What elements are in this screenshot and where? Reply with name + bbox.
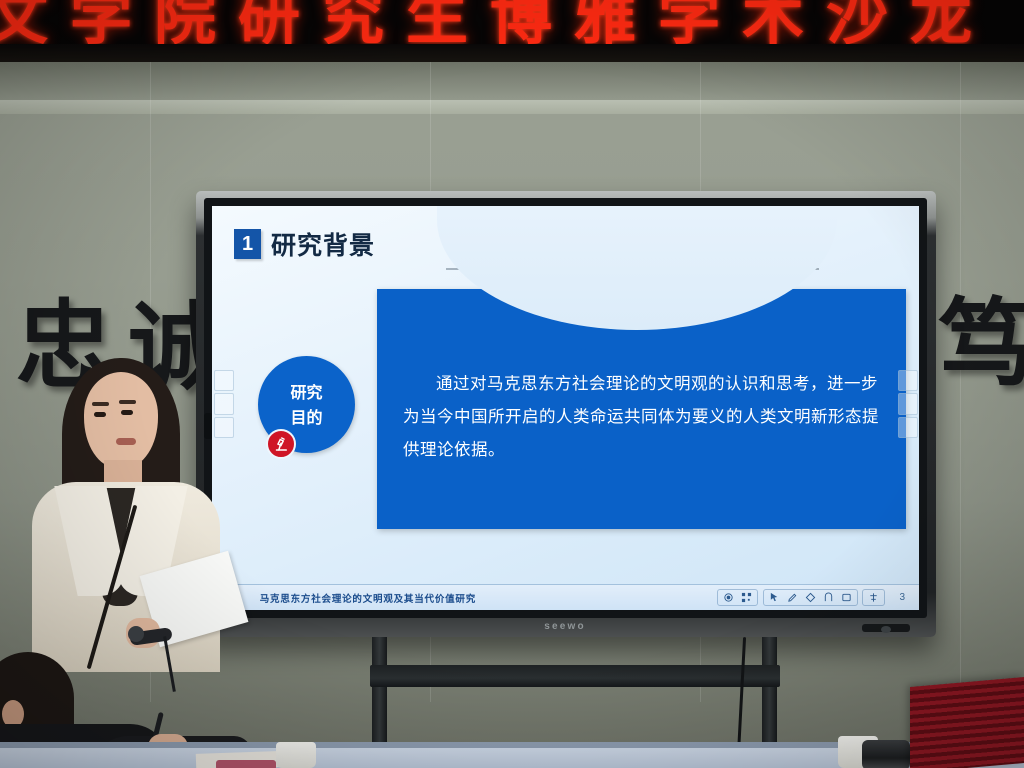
microphone-head: [128, 626, 144, 642]
led-banner-shadow: [0, 44, 1024, 62]
slide-header: 1 研究背景: [234, 226, 375, 262]
cart-leg-right: [762, 637, 777, 755]
presenter-eye-left: [94, 412, 106, 417]
slide-side-toolbar-right[interactable]: [898, 370, 918, 438]
qr-code-icon[interactable]: [739, 590, 754, 605]
led-banner-text: 文学院研究生博雅学术沙龙: [0, 0, 994, 48]
wall-calligraphy-char-3: 笃: [938, 296, 1024, 392]
thermos-lid: [862, 740, 910, 768]
slide-page-number: 3: [899, 592, 905, 603]
paper-cup-left: [276, 742, 316, 768]
led-scrolling-banner: 文学院研究生博雅学术沙龙: [0, 0, 1024, 62]
display-power-led: [881, 626, 891, 633]
toolbar-group-align[interactable]: [862, 589, 885, 606]
wall-trim-band: [0, 100, 1024, 114]
slide-footer-title: 马克思东方社会理论的文明观及其当代价值研究: [260, 591, 476, 605]
presenter-mouth: [116, 438, 136, 445]
slide-bottom-bar: ➤ 马克思东方社会理论的文明观及其当代价值研究: [212, 584, 919, 610]
side-tool-icon-1[interactable]: [898, 370, 918, 391]
presenter-person: [18, 330, 248, 670]
display-brand-logo: seewo: [533, 621, 597, 633]
presentation-mode-icon[interactable]: [721, 590, 736, 605]
presenter-face: [84, 372, 158, 468]
circle-label-line-2: 目的: [290, 405, 322, 430]
cart-crossbar: [370, 665, 780, 687]
circle-label-line-1: 研究: [290, 380, 322, 405]
eraser-icon[interactable]: [803, 590, 818, 605]
pen-icon[interactable]: [785, 590, 800, 605]
page-title: 研究背景: [271, 226, 375, 262]
cart-leg-left: [372, 637, 387, 755]
side-tool-icon-2[interactable]: [898, 393, 918, 414]
content-card: 通过对马克思东方社会理论的文明观的认识和思考，进一步为当今中国所开启的人类命运共…: [377, 289, 906, 529]
certificate-folder-stack: [910, 677, 1024, 768]
presenter-brow-right: [119, 400, 136, 404]
microscope-icon: [266, 429, 296, 459]
toolbar-group-tools[interactable]: [763, 589, 858, 606]
presenter-brow-left: [92, 402, 109, 406]
presentation-slide[interactable]: 1 研究背景 通过对马克思东方社会理论的文明观的认识和思考，进一步为当今中国所开…: [212, 206, 919, 610]
side-tool-icon-3[interactable]: [898, 417, 918, 438]
conference-room-scene: 文学院研究生博雅学术沙龙 忠 诚 笃 1 研究背景 通过对马克思东方社会理论的文…: [0, 0, 1024, 768]
shape-rect-icon[interactable]: [839, 590, 854, 605]
slide-body-text: 通过对马克思东方社会理论的文明观的认识和思考，进一步为当今中国所开启的人类命运共…: [403, 367, 883, 466]
smartphone: [216, 760, 276, 768]
shape-circle-icon[interactable]: [821, 590, 836, 605]
cursor-select-icon[interactable]: [767, 590, 782, 605]
presenter-eye-right: [121, 410, 133, 415]
section-number-box: 1: [234, 229, 261, 259]
align-icon[interactable]: [866, 590, 881, 605]
toolbar-group-view[interactable]: [717, 589, 758, 606]
card-arc-decoration: [437, 206, 837, 330]
